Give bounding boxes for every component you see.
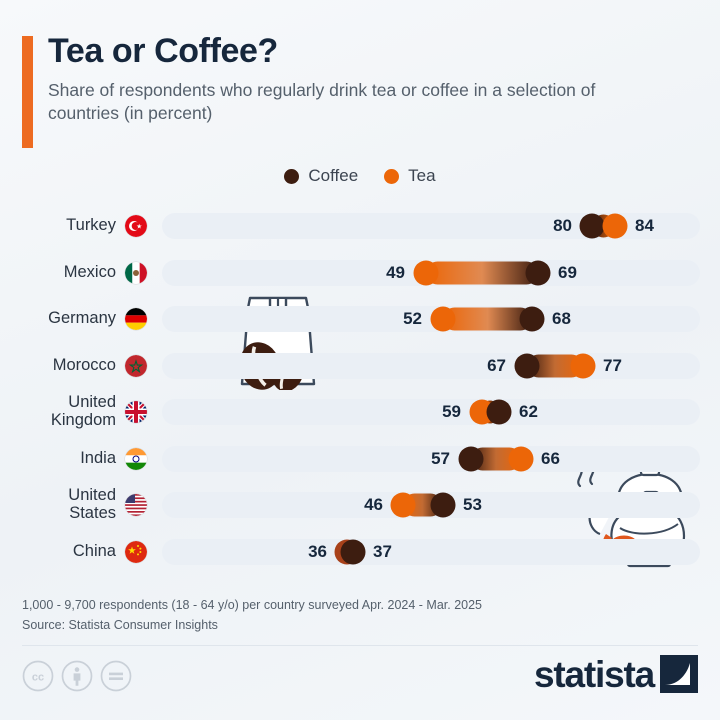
bar-track: 36 37 [162, 539, 700, 565]
table-row: India 57 66 [0, 436, 720, 483]
tea-endpoint [570, 353, 595, 378]
row-label-turkey: Turkey [0, 203, 118, 250]
table-row: United States 46 53 [0, 482, 720, 529]
row-label-mexico: Mexico [0, 250, 118, 297]
coffee-endpoint [514, 353, 539, 378]
tea-swatch-icon [384, 169, 399, 184]
coffee-swatch-icon [284, 169, 299, 184]
row-label-united-kingdom: United Kingdom [0, 389, 118, 436]
header: Tea or Coffee? Share of respondents who … [22, 33, 696, 125]
table-row: China 36 37 [0, 529, 720, 576]
page-subtitle: Share of respondents who regularly drink… [48, 79, 668, 126]
legend-item-tea[interactable]: Tea [384, 166, 435, 186]
flag-mexico-icon [125, 262, 147, 284]
row-label-united-states: United States [0, 482, 118, 529]
coffee-endpoint [525, 260, 550, 285]
source-note: Source: Statista Consumer Insights [22, 615, 482, 635]
page-title: Tea or Coffee? [48, 33, 696, 70]
flag-morocco-icon [125, 355, 147, 377]
value-right: 84 [627, 216, 654, 236]
range-bar [426, 261, 538, 284]
svg-text:cc: cc [32, 672, 44, 684]
bar-track: 52 68 [162, 306, 700, 332]
survey-note: 1,000 - 9,700 respondents (18 - 64 y/o) … [22, 595, 482, 615]
chart-rows: Turkey 80 84 Mexico 49 69 [0, 203, 720, 575]
bar-track: 49 69 [162, 260, 700, 286]
coffee-endpoint [430, 493, 455, 518]
row-label-line2: Kingdom [51, 412, 116, 430]
coffee-endpoint [580, 214, 605, 239]
tea-endpoint [508, 446, 533, 471]
row-label-morocco: Morocco [0, 343, 118, 390]
cc-icon[interactable]: cc [22, 660, 54, 692]
flag-united-kingdom-icon [125, 401, 147, 423]
footer-divider [22, 645, 698, 646]
bar-track: 57 66 [162, 446, 700, 472]
table-row: United Kingdom 59 62 [0, 389, 720, 436]
statista-wordmark: statista [534, 656, 654, 693]
value-left: 36 [308, 542, 335, 562]
statista-logo[interactable]: statista [534, 655, 698, 693]
chart-legend: Coffee Tea [0, 166, 720, 186]
value-left: 49 [386, 263, 413, 283]
coffee-endpoint [458, 446, 483, 471]
value-right: 77 [595, 356, 622, 376]
row-label-india: India [0, 436, 118, 483]
infographic-canvas: Tea or Coffee? Share of respondents who … [0, 0, 720, 720]
flag-turkey-icon [125, 215, 147, 237]
coffee-endpoint [340, 539, 365, 564]
row-label-line2: States [69, 505, 116, 523]
value-left: 57 [431, 449, 458, 469]
license-icons[interactable]: cc [22, 660, 132, 692]
tea-endpoint [413, 260, 438, 285]
value-left: 59 [442, 402, 469, 422]
value-right: 66 [533, 449, 560, 469]
bar-track: 80 84 [162, 213, 700, 239]
flag-china-icon [125, 541, 147, 563]
value-left: 46 [364, 495, 391, 515]
cc-nd-icon[interactable] [100, 660, 132, 692]
value-right: 37 [365, 542, 392, 562]
value-right: 62 [511, 402, 538, 422]
value-right: 53 [455, 495, 482, 515]
bar-track: 46 53 [162, 492, 700, 518]
row-label-line1: United [68, 487, 116, 505]
tea-endpoint [602, 214, 627, 239]
cc-by-icon[interactable] [61, 660, 93, 692]
row-label-china: China [0, 529, 118, 576]
legend-label-tea: Tea [408, 166, 435, 186]
coffee-endpoint [520, 307, 545, 332]
legend-item-coffee[interactable]: Coffee [284, 166, 358, 186]
bar-track: 59 62 [162, 399, 700, 425]
value-right: 68 [544, 309, 571, 329]
tea-endpoint [430, 307, 455, 332]
flag-germany-icon [125, 308, 147, 330]
table-row: Mexico 49 69 [0, 250, 720, 297]
table-row: Morocco 67 77 [0, 343, 720, 390]
flag-india-icon [125, 448, 147, 470]
table-row: Germany 52 68 [0, 296, 720, 343]
coffee-endpoint [486, 400, 511, 425]
table-row: Turkey 80 84 [0, 203, 720, 250]
flag-united-states-icon [125, 494, 147, 516]
statista-mark-icon [660, 655, 698, 693]
row-label-line1: United [68, 394, 116, 412]
value-left: 52 [403, 309, 430, 329]
row-label-germany: Germany [0, 296, 118, 343]
value-right: 69 [550, 263, 577, 283]
footnotes: 1,000 - 9,700 respondents (18 - 64 y/o) … [22, 595, 482, 636]
accent-bar [22, 36, 33, 148]
value-left: 67 [487, 356, 514, 376]
legend-label-coffee: Coffee [308, 166, 358, 186]
value-left: 80 [553, 216, 580, 236]
bar-track: 67 77 [162, 353, 700, 379]
tea-endpoint [391, 493, 416, 518]
